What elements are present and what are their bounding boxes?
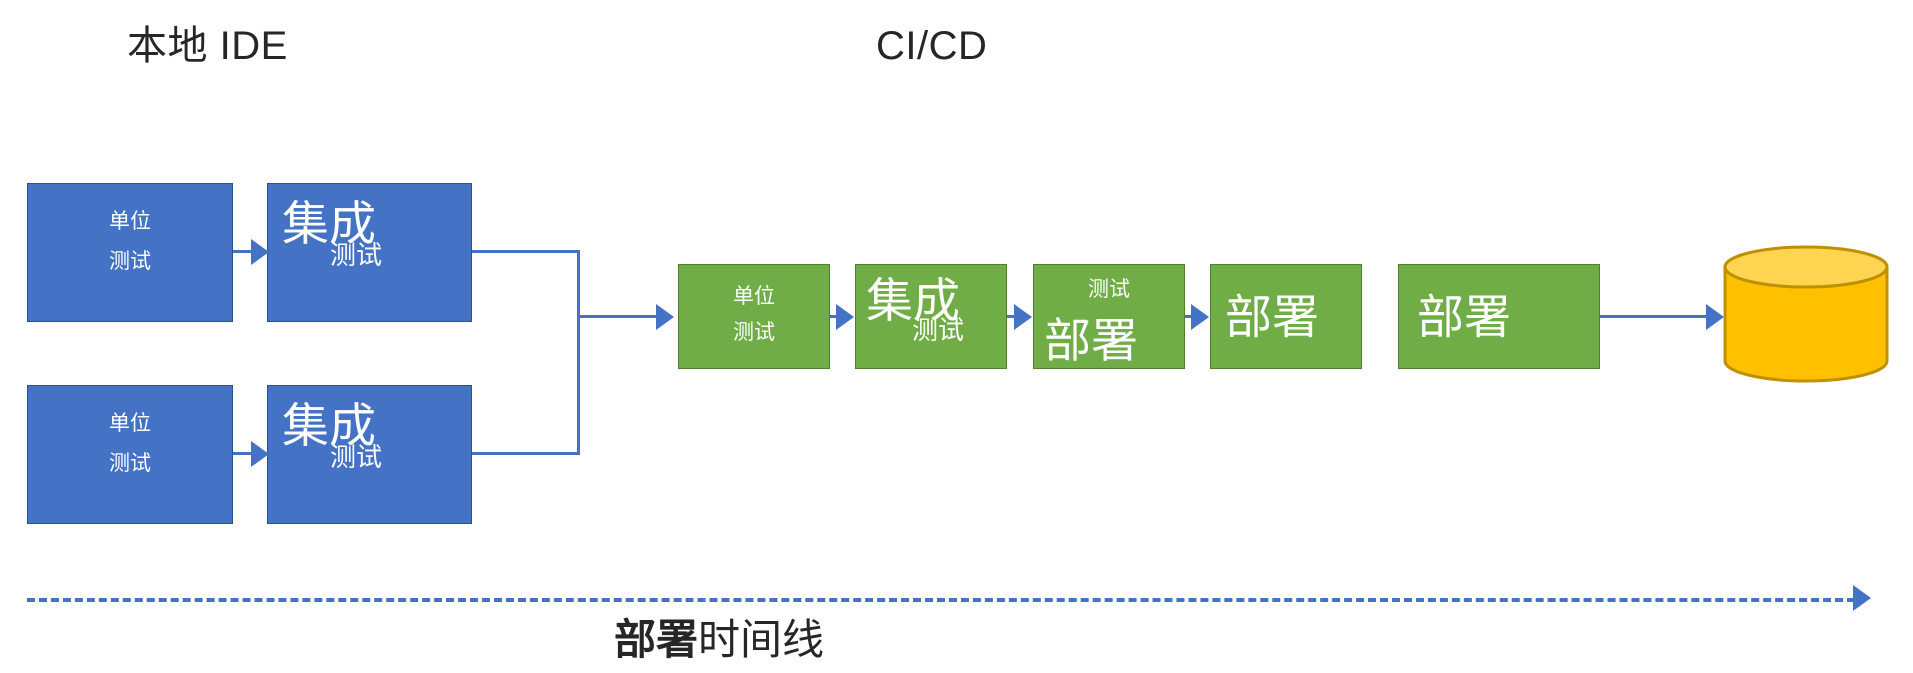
process-box-integration-test-ci[interactable]: 集成 测试 (855, 264, 1007, 369)
box-label-stack: 单位 测试 (28, 386, 232, 523)
box-label-line1: 单位 (28, 211, 232, 232)
database-cylinder[interactable] (1722, 245, 1890, 383)
box-label-stack: 部署 (1211, 265, 1361, 368)
box-label-primary: 部署 (1225, 293, 1319, 340)
deployment-timeline-line (27, 598, 1855, 602)
box-label-secondary: 测试 (1034, 279, 1184, 300)
box-label-stack: 集成 测试 (268, 184, 471, 321)
box-label-primary: 部署 (1417, 293, 1511, 340)
box-label-stack: 单位 测试 (679, 265, 829, 368)
box-label-stack: 集成 测试 (268, 386, 471, 523)
arrowhead-deployment-timeline (1853, 585, 1871, 611)
process-box-integration-test-local-bottom[interactable]: 集成 测试 (267, 385, 472, 524)
connector-merge-to-cicd (577, 315, 660, 318)
diagram-canvas: 本地 IDE CI/CD 单位 测试 集成 测试 单位 测试 集成 测试 (0, 0, 1913, 673)
box-label-secondary: 测试 (330, 242, 382, 268)
process-box-deploy-final[interactable]: 部署 (1398, 264, 1600, 369)
box-label-stack: 集成 测试 (856, 265, 1006, 368)
box-label-primary: 部署 (1044, 317, 1138, 364)
connector-merge-bottom-horizontal (472, 452, 580, 455)
box-label-line1: 单位 (679, 286, 829, 307)
timeline-caption-bold: 部署 (614, 616, 698, 663)
deployment-timeline-caption: 部署时间线 (614, 619, 824, 661)
timeline-caption-light: 时间线 (698, 616, 824, 663)
section-title-local-ide: 本地 IDE (127, 26, 288, 66)
box-label-line2: 测试 (679, 322, 829, 343)
connector-deploy-to-datastore (1600, 315, 1710, 318)
box-label-stack: 测试 部署 (1034, 265, 1184, 368)
arrowhead-unit-to-integration-bottom (251, 441, 269, 467)
arrowhead-ci-integration-to-testdeploy (1014, 304, 1032, 330)
process-box-unit-test-local-bottom[interactable]: 单位 测试 (27, 385, 233, 524)
process-box-integration-test-local-top[interactable]: 集成 测试 (267, 183, 472, 322)
box-label-secondary: 测试 (330, 444, 382, 470)
box-label-stack: 部署 (1399, 265, 1599, 368)
box-label-secondary: 测试 (912, 317, 964, 343)
arrowhead-ci-testdeploy-to-deploy (1191, 304, 1209, 330)
process-box-test-deploy-ci[interactable]: 测试 部署 (1033, 264, 1185, 369)
connector-merge-vertical (577, 250, 580, 455)
process-box-unit-test-ci[interactable]: 单位 测试 (678, 264, 830, 369)
process-box-unit-test-local-top[interactable]: 单位 测试 (27, 183, 233, 322)
box-label-line1: 单位 (28, 413, 232, 434)
database-cylinder-icon (1722, 245, 1890, 383)
box-label-line2: 测试 (28, 453, 232, 474)
arrowhead-unit-to-integration-top (251, 239, 269, 265)
box-label-stack: 单位 测试 (28, 184, 232, 321)
box-label-line2: 测试 (28, 251, 232, 272)
arrowhead-ci-unit-to-integration (836, 304, 854, 330)
connector-merge-top-horizontal (472, 250, 580, 253)
process-box-deploy-ci[interactable]: 部署 (1210, 264, 1362, 369)
arrowhead-merge-to-cicd (656, 304, 674, 330)
section-title-cicd: CI/CD (876, 26, 987, 66)
